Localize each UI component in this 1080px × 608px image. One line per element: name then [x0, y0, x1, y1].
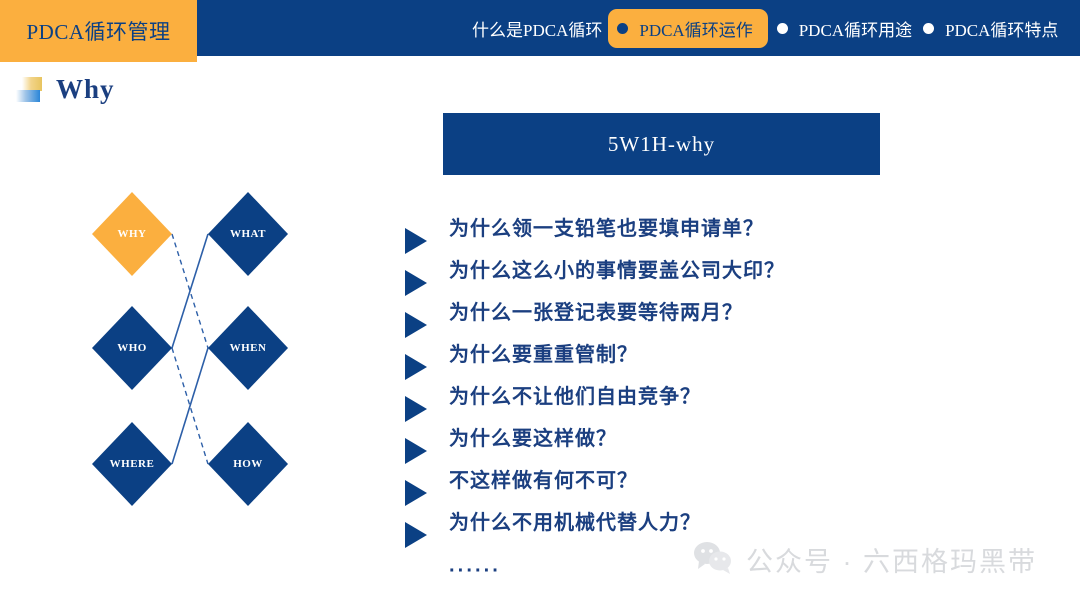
diamond-when[interactable]: [208, 306, 288, 390]
nav-item-pdca-features[interactable]: PDCA循环特点: [914, 16, 1060, 41]
watermark: 公众号 · 六西格玛黑带: [692, 540, 1037, 579]
list-item: 为什么要重重管制？: [405, 338, 925, 380]
list-item: 为什么不让他们自由竞争？: [405, 380, 925, 422]
diagram-connectors: [172, 234, 208, 464]
question-text: 为什么一张登记表要等待两月？: [449, 296, 743, 325]
diamond-how[interactable]: [208, 422, 288, 506]
triangle-bullet-icon: [405, 396, 427, 422]
diamond-who[interactable]: [92, 306, 172, 390]
list-item: 为什么这么小的事情要盖公司大印？: [405, 254, 925, 296]
triangle-bullet-icon: [405, 228, 427, 254]
nav-bullet-icon: [617, 23, 628, 34]
question-text: 为什么要这样做？: [449, 422, 617, 451]
nav-item-pdca-usage[interactable]: PDCA循环用途: [768, 16, 914, 41]
diamond-where[interactable]: [92, 422, 172, 506]
question-text: 为什么这么小的事情要盖公司大印？: [449, 254, 785, 283]
wechat-icon: [692, 540, 734, 579]
5w1h-diamond-diagram: WHY WHAT WHO WHEN WHERE HOW: [60, 180, 360, 510]
panel-header-bar: 5W1H-why: [443, 113, 880, 175]
brand-title: PDCA循环管理: [26, 16, 170, 46]
diamond-what[interactable]: [208, 192, 288, 276]
nav-item-label: PDCA循环用途: [797, 16, 914, 41]
panel-title: 5W1H-why: [608, 132, 715, 157]
nav-item-label: PDCA循环运作: [637, 16, 754, 41]
diagram-nodes: [92, 192, 288, 506]
diamond-why[interactable]: [92, 192, 172, 276]
nav-item-pdca-operation[interactable]: PDCA循环运作: [608, 9, 767, 48]
nav-bullet-icon: [777, 23, 788, 34]
triangle-bullet-icon: [405, 270, 427, 296]
question-list-ellipsis: ······: [449, 560, 501, 583]
list-item: 为什么要这样做？: [405, 422, 925, 464]
page-title: Why: [56, 74, 115, 105]
square-accent-gold: [22, 77, 42, 91]
question-text: 不这样做有何不可？: [449, 464, 638, 493]
watermark-text: 公众号 · 六西格玛黑带: [746, 540, 1037, 579]
question-text: 为什么要重重管制？: [449, 338, 638, 367]
list-item: 为什么一张登记表要等待两月？: [405, 296, 925, 338]
nav-items-container: 什么是PDCA循环 PDCA循环运作 PDCA循环用途 PDCA循环特点: [470, 0, 1060, 56]
triangle-bullet-icon: [405, 438, 427, 464]
nav-item-label: PDCA循环特点: [943, 16, 1060, 41]
diagram-svg: [60, 180, 360, 510]
section-heading: Why: [14, 74, 115, 105]
question-text: 为什么不让他们自由竞争？: [449, 380, 701, 409]
list-item: 为什么领一支铅笔也要填申请单？: [405, 212, 925, 254]
list-item: 不这样做有何不可？: [405, 464, 925, 506]
triangle-bullet-icon: [405, 312, 427, 338]
nav-item-label: 什么是PDCA循环: [470, 16, 604, 41]
triangle-bullet-icon: [405, 480, 427, 506]
nav-item-what-is-pdca[interactable]: 什么是PDCA循环: [470, 16, 604, 41]
square-accent-blue: [16, 90, 40, 102]
question-text: 为什么领一支铅笔也要填申请单？: [449, 212, 764, 241]
question-text: 为什么不用机械代替人力？: [449, 506, 701, 535]
triangle-bullet-icon: [405, 522, 427, 548]
nav-bullet-icon: [923, 23, 934, 34]
square-accent-icon: [14, 75, 48, 105]
question-list: 为什么领一支铅笔也要填申请单？ 为什么这么小的事情要盖公司大印？ 为什么一张登记…: [405, 212, 925, 548]
triangle-bullet-icon: [405, 354, 427, 380]
brand-block: PDCA循环管理: [0, 0, 197, 62]
